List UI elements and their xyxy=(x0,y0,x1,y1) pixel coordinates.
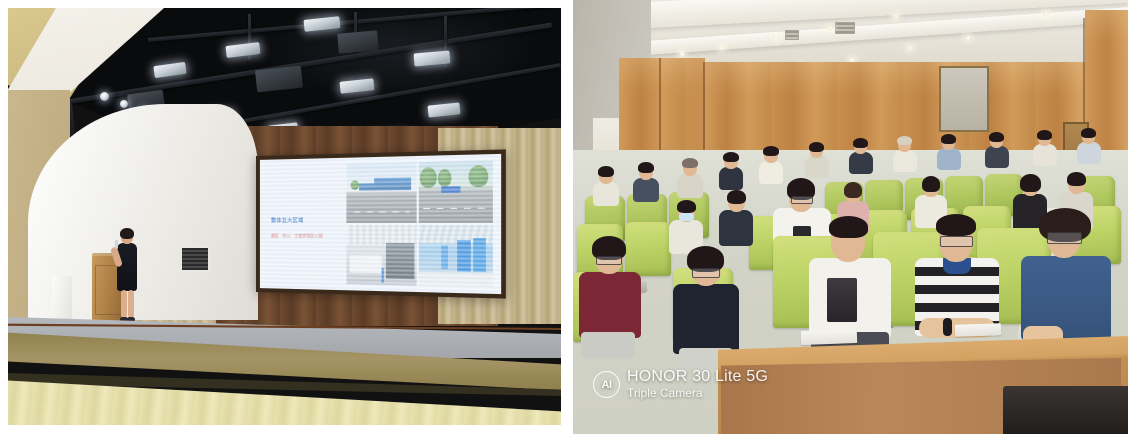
recessed-downlight xyxy=(679,52,685,56)
person-hair xyxy=(1067,172,1086,186)
eyeglasses xyxy=(940,236,973,247)
handout-paper[interactable] xyxy=(801,329,857,345)
audience-member xyxy=(805,142,829,178)
person-torso xyxy=(1033,144,1057,166)
person-torso xyxy=(633,178,659,202)
photo-audience-seating: AI HONOR 30 Lite 5G Triple Camera xyxy=(573,0,1128,434)
person-hair xyxy=(1081,128,1096,138)
person-torso xyxy=(579,272,641,338)
person-hair xyxy=(677,200,696,213)
audience-member xyxy=(1033,130,1057,166)
recessed-downlight xyxy=(907,46,913,50)
person-hair xyxy=(763,146,779,156)
ceiling-vent xyxy=(835,22,855,34)
slide-panel-render-tree-lined-road xyxy=(419,161,493,223)
presenter xyxy=(112,230,142,326)
person-hair xyxy=(897,136,912,145)
person-hair xyxy=(1037,130,1052,140)
slide-panel-render-road-building xyxy=(347,163,417,223)
person-hair xyxy=(853,138,868,148)
eyeglasses xyxy=(791,196,813,204)
eyeglasses xyxy=(692,268,720,278)
audience-member xyxy=(719,152,743,190)
microphone xyxy=(115,240,118,249)
recessed-downlight xyxy=(893,14,899,18)
recessed-downlight xyxy=(719,46,725,50)
audience-member xyxy=(719,190,753,246)
slide-panel-render-interior-hall xyxy=(419,225,493,287)
person-hair xyxy=(941,134,956,144)
person-torso xyxy=(805,156,829,178)
presenter-leg xyxy=(128,290,134,318)
slide-panel-render-interior-lab xyxy=(347,225,417,285)
handout-paper[interactable] xyxy=(955,323,1001,337)
stage-light-housing xyxy=(337,30,379,53)
slide-title: 整体五大区域 xyxy=(271,217,339,223)
person-torso xyxy=(937,148,961,170)
eyeglasses xyxy=(1047,232,1082,244)
downlight xyxy=(120,100,128,108)
audience-member xyxy=(937,134,961,170)
person-torso xyxy=(719,210,753,246)
recessed-downlight xyxy=(773,36,779,40)
person-hair xyxy=(936,214,976,236)
audience-member xyxy=(849,138,873,174)
audience-member xyxy=(593,166,619,206)
audience-member xyxy=(677,158,703,198)
recessed-downlight xyxy=(965,36,971,40)
person-torso xyxy=(1077,142,1101,164)
audience-member xyxy=(633,162,659,202)
face-mask xyxy=(679,213,694,221)
ceiling-vent xyxy=(785,30,799,40)
photo-stage-presentation: 整体五大区域 展区 · 办公 · 工程实验区公园 xyxy=(8,8,561,425)
person-hair xyxy=(989,132,1004,142)
person-hair xyxy=(638,162,654,173)
desk-dark-object xyxy=(1003,386,1128,434)
student-blue-tank xyxy=(1021,208,1111,354)
recessed-downlight xyxy=(1043,12,1049,16)
audience-member xyxy=(1077,128,1101,164)
person-torso xyxy=(593,182,619,206)
audience-member xyxy=(985,132,1009,168)
slide-image-grid xyxy=(347,161,494,287)
person-hair xyxy=(682,158,698,168)
person-hair xyxy=(598,166,614,177)
person-hair xyxy=(727,190,746,204)
screenshot-root: 整体五大区域 展区 · 办公 · 工程实验区公园 xyxy=(0,0,1142,434)
presenter-leg xyxy=(121,290,127,318)
person-hair xyxy=(844,182,862,198)
eyeglasses xyxy=(596,256,622,265)
presenter-hair xyxy=(120,228,134,239)
downlight xyxy=(100,92,109,101)
person-torso xyxy=(849,152,873,174)
slide-subtitle: 展区 · 办公 · 工程实验区公园 xyxy=(271,233,339,239)
person-torso xyxy=(677,174,703,198)
person-hair xyxy=(829,216,868,238)
person-torso xyxy=(893,150,917,172)
person-hair xyxy=(922,176,940,192)
projection-screen: 整体五大区域 展区 · 办公 · 工程实验区公园 xyxy=(256,149,506,298)
audience-member xyxy=(893,136,917,172)
wall-vent xyxy=(180,246,210,272)
presenter-dress xyxy=(117,243,137,291)
person-torso xyxy=(673,284,739,354)
shirt-graphic xyxy=(827,278,857,322)
person-hair xyxy=(809,142,824,152)
person-lap xyxy=(581,332,635,358)
back-door[interactable] xyxy=(939,66,989,132)
audience-member-maroon xyxy=(579,236,641,356)
person-torso xyxy=(719,167,743,190)
person-hair xyxy=(1020,174,1041,192)
person-hair xyxy=(723,152,739,162)
wristwatch xyxy=(943,318,952,336)
person-torso xyxy=(985,146,1009,168)
recessed-downlight xyxy=(827,26,833,30)
av-cabinet xyxy=(52,276,72,320)
